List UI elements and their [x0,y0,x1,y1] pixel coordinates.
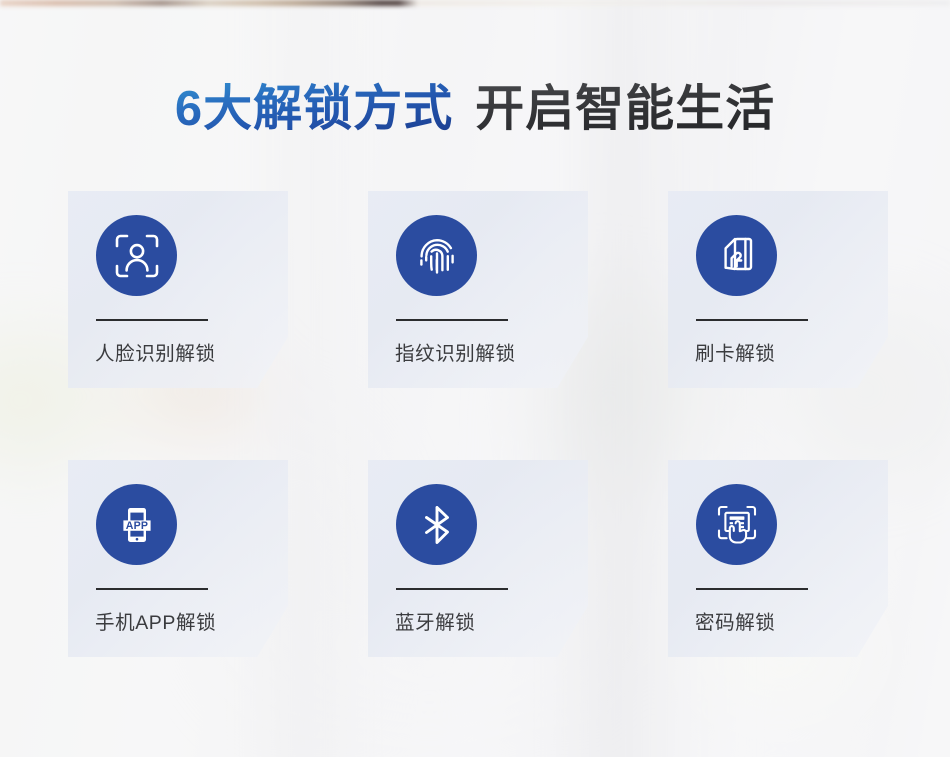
access-card-icon [696,215,777,296]
poster-stage: 6大解锁方式开启智能生活 人脸识别解锁 [0,0,950,757]
unlock-card-password[interactable]: 密码解锁 [668,460,888,657]
phone-app-icon: APP [96,484,177,565]
unlock-card-label: 刷卡解锁 [695,337,775,366]
svg-text:APP: APP [125,519,147,531]
page-title-highlight: 6大解锁方式 [175,82,453,136]
bluetooth-icon [396,484,477,565]
background-top-strip [0,0,950,6]
unlock-card-bluetooth[interactable]: 蓝牙解锁 [368,460,588,657]
unlock-card-fingerprint[interactable]: 指纹识别解锁 [368,191,588,388]
unlock-card-app[interactable]: APP 手机APP解锁 [68,460,288,657]
face-recognition-icon [96,215,177,296]
unlock-card-label: 指纹识别解锁 [395,337,516,366]
unlock-card-label: 人脸识别解锁 [95,337,216,366]
unlock-methods-grid: 人脸识别解锁 指纹识别解锁 [68,191,888,657]
page-title-rest: 开启智能生活 [475,82,775,136]
page-title: 6大解锁方式开启智能生活 [0,82,950,137]
unlock-card-label: 密码解锁 [695,606,775,635]
card-divider [396,588,508,590]
card-divider [96,319,208,321]
unlock-card-label: 蓝牙解锁 [395,606,475,635]
card-divider [396,319,508,321]
unlock-card-access-card[interactable]: 刷卡解锁 [668,191,888,388]
unlock-card-face[interactable]: 人脸识别解锁 [68,191,288,388]
card-divider [696,319,808,321]
card-divider [96,588,208,590]
fingerprint-icon [396,215,477,296]
unlock-card-label: 手机APP解锁 [95,606,216,635]
keypad-password-icon [696,484,777,565]
card-divider [696,588,808,590]
